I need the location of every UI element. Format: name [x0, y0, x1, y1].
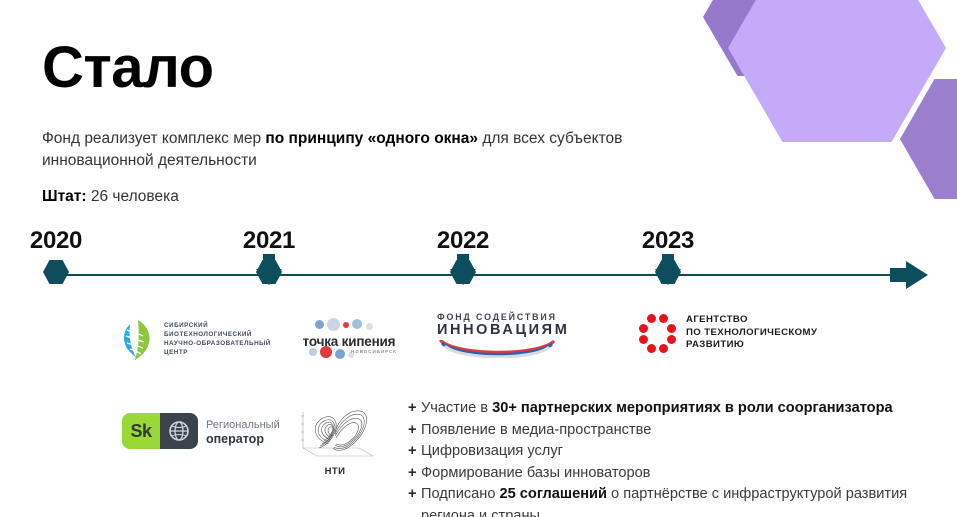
- timeline-year-label: 2022: [418, 228, 508, 254]
- list-item-text: Подписано 25 соглашений о партнёрстве с …: [421, 484, 948, 517]
- page-title: Стало: [42, 36, 214, 100]
- logo-atr-text: Агентство по технологическому развитию: [686, 314, 817, 352]
- logo-sk-line1: Региональный: [206, 419, 280, 431]
- logo-sk-line2: оператор: [206, 432, 264, 446]
- list-item: + Участие в 30+ партнерских мероприятиях…: [408, 398, 948, 420]
- plus-icon: +: [408, 484, 421, 506]
- leaf-dna-icon: [118, 316, 158, 362]
- hexagon-dots-icon: [636, 312, 678, 354]
- timeline-node-2021[interactable]: 2021: [224, 228, 314, 284]
- plus-icon: +: [408, 398, 421, 420]
- staff-label: Штат:: [42, 188, 87, 205]
- plus-icon: +: [408, 420, 421, 442]
- list-item-text: Цифровизация услуг: [421, 441, 948, 463]
- lead-text-bold: по принципу «одного окна»: [265, 130, 478, 147]
- logo-sibbio-text: Сибирский Биотехнологический Научно-обра…: [164, 321, 271, 357]
- list-item-text-bold: 25 соглашений: [500, 486, 607, 502]
- list-item-text-bold: 30+ партнерских мероприятиях в роли соор…: [492, 400, 893, 416]
- list-item: + Формирование базы инноваторов: [408, 463, 948, 485]
- globe-icon: [160, 413, 198, 449]
- timeline-node-2022[interactable]: 2022: [418, 228, 508, 284]
- skolkovo-badge: Sk: [122, 413, 198, 449]
- timeline: 2020 2021 2022 2023: [0, 228, 957, 308]
- list-item-text-before: Формирование базы инноваторов: [421, 465, 650, 481]
- achievements-list: + Участие в 30+ партнерских мероприятиях…: [408, 398, 948, 517]
- logo-skolkovo-regional-operator: Sk Региональный оператор: [122, 413, 280, 449]
- logo-fsi-line1: ФОНД СОДЕЙСТВИЯ: [437, 312, 557, 322]
- logo-tochka-kipeniya: точка кипения НОВОСИБИРСК: [293, 318, 405, 362]
- logo-sk-mark: Sk: [122, 413, 160, 449]
- timeline-node-2020[interactable]: 2020: [11, 228, 101, 284]
- list-item-text-before: Цифровизация услуг: [421, 443, 563, 459]
- logo-nti: НТИ: [287, 398, 383, 477]
- timeline-year-label: 2020: [11, 228, 101, 254]
- logo-sk-text: Региональный оператор: [206, 417, 280, 446]
- logo-agentstvo-tehnologicheskogo-razvitiya: Агентство по технологическому развитию: [636, 312, 817, 354]
- logo-tochka-word: точка кипения: [293, 334, 405, 349]
- logo-sibirskiy-biotech-noc: Сибирский Биотехнологический Научно-обра…: [118, 316, 271, 362]
- staff-line: Штат: 26 человека: [42, 186, 179, 208]
- list-item: + Цифровизация услуг: [408, 441, 948, 463]
- bubbles-icon: точка кипения НОВОСИБИРСК: [293, 318, 405, 362]
- list-item-text-before: Подписано: [421, 486, 500, 502]
- timeline-end-arrow-icon: [906, 261, 928, 289]
- logo-tochka-sub: НОВОСИБИРСК: [351, 349, 397, 354]
- timeline-hexagon-marker: [43, 260, 69, 284]
- plus-icon: +: [408, 463, 421, 485]
- timeline-year-label: 2023: [623, 228, 713, 254]
- logo-fsi-line2: ИННОВАЦИЯМ: [437, 322, 557, 339]
- lead-paragraph: Фонд реализует комплекс мер по принципу …: [42, 128, 682, 172]
- list-item-text-before: Появление в медиа-пространстве: [421, 422, 651, 438]
- list-item-text: Формирование базы инноваторов: [421, 463, 948, 485]
- logo-nti-caption: НТИ: [287, 466, 383, 477]
- staff-value: 26 человека: [91, 188, 179, 205]
- timeline-node-2023[interactable]: 2023: [623, 228, 713, 284]
- tricolor-swoosh-icon: [437, 340, 557, 358]
- list-item: + Подписано 25 соглашений о партнёрстве …: [408, 484, 948, 517]
- list-item-text: Участие в 30+ партнерских мероприятиях в…: [421, 398, 948, 420]
- list-item: + Появление в медиа-пространстве: [408, 420, 948, 442]
- timeline-year-label: 2021: [224, 228, 314, 254]
- list-item-text-before: Участие в: [421, 400, 492, 416]
- logo-fond-sodeystviya-innovaciyam: ФОНД СОДЕЙСТВИЯ ИННОВАЦИЯМ: [437, 312, 557, 358]
- lead-text-before: Фонд реализует комплекс мер: [42, 130, 265, 147]
- list-item-text: Появление в медиа-пространстве: [421, 420, 948, 442]
- lorenz-attractor-icon: [287, 398, 383, 464]
- plus-icon: +: [408, 441, 421, 463]
- slide-canvas: Стало Фонд реализует комплекс мер по при…: [0, 0, 957, 517]
